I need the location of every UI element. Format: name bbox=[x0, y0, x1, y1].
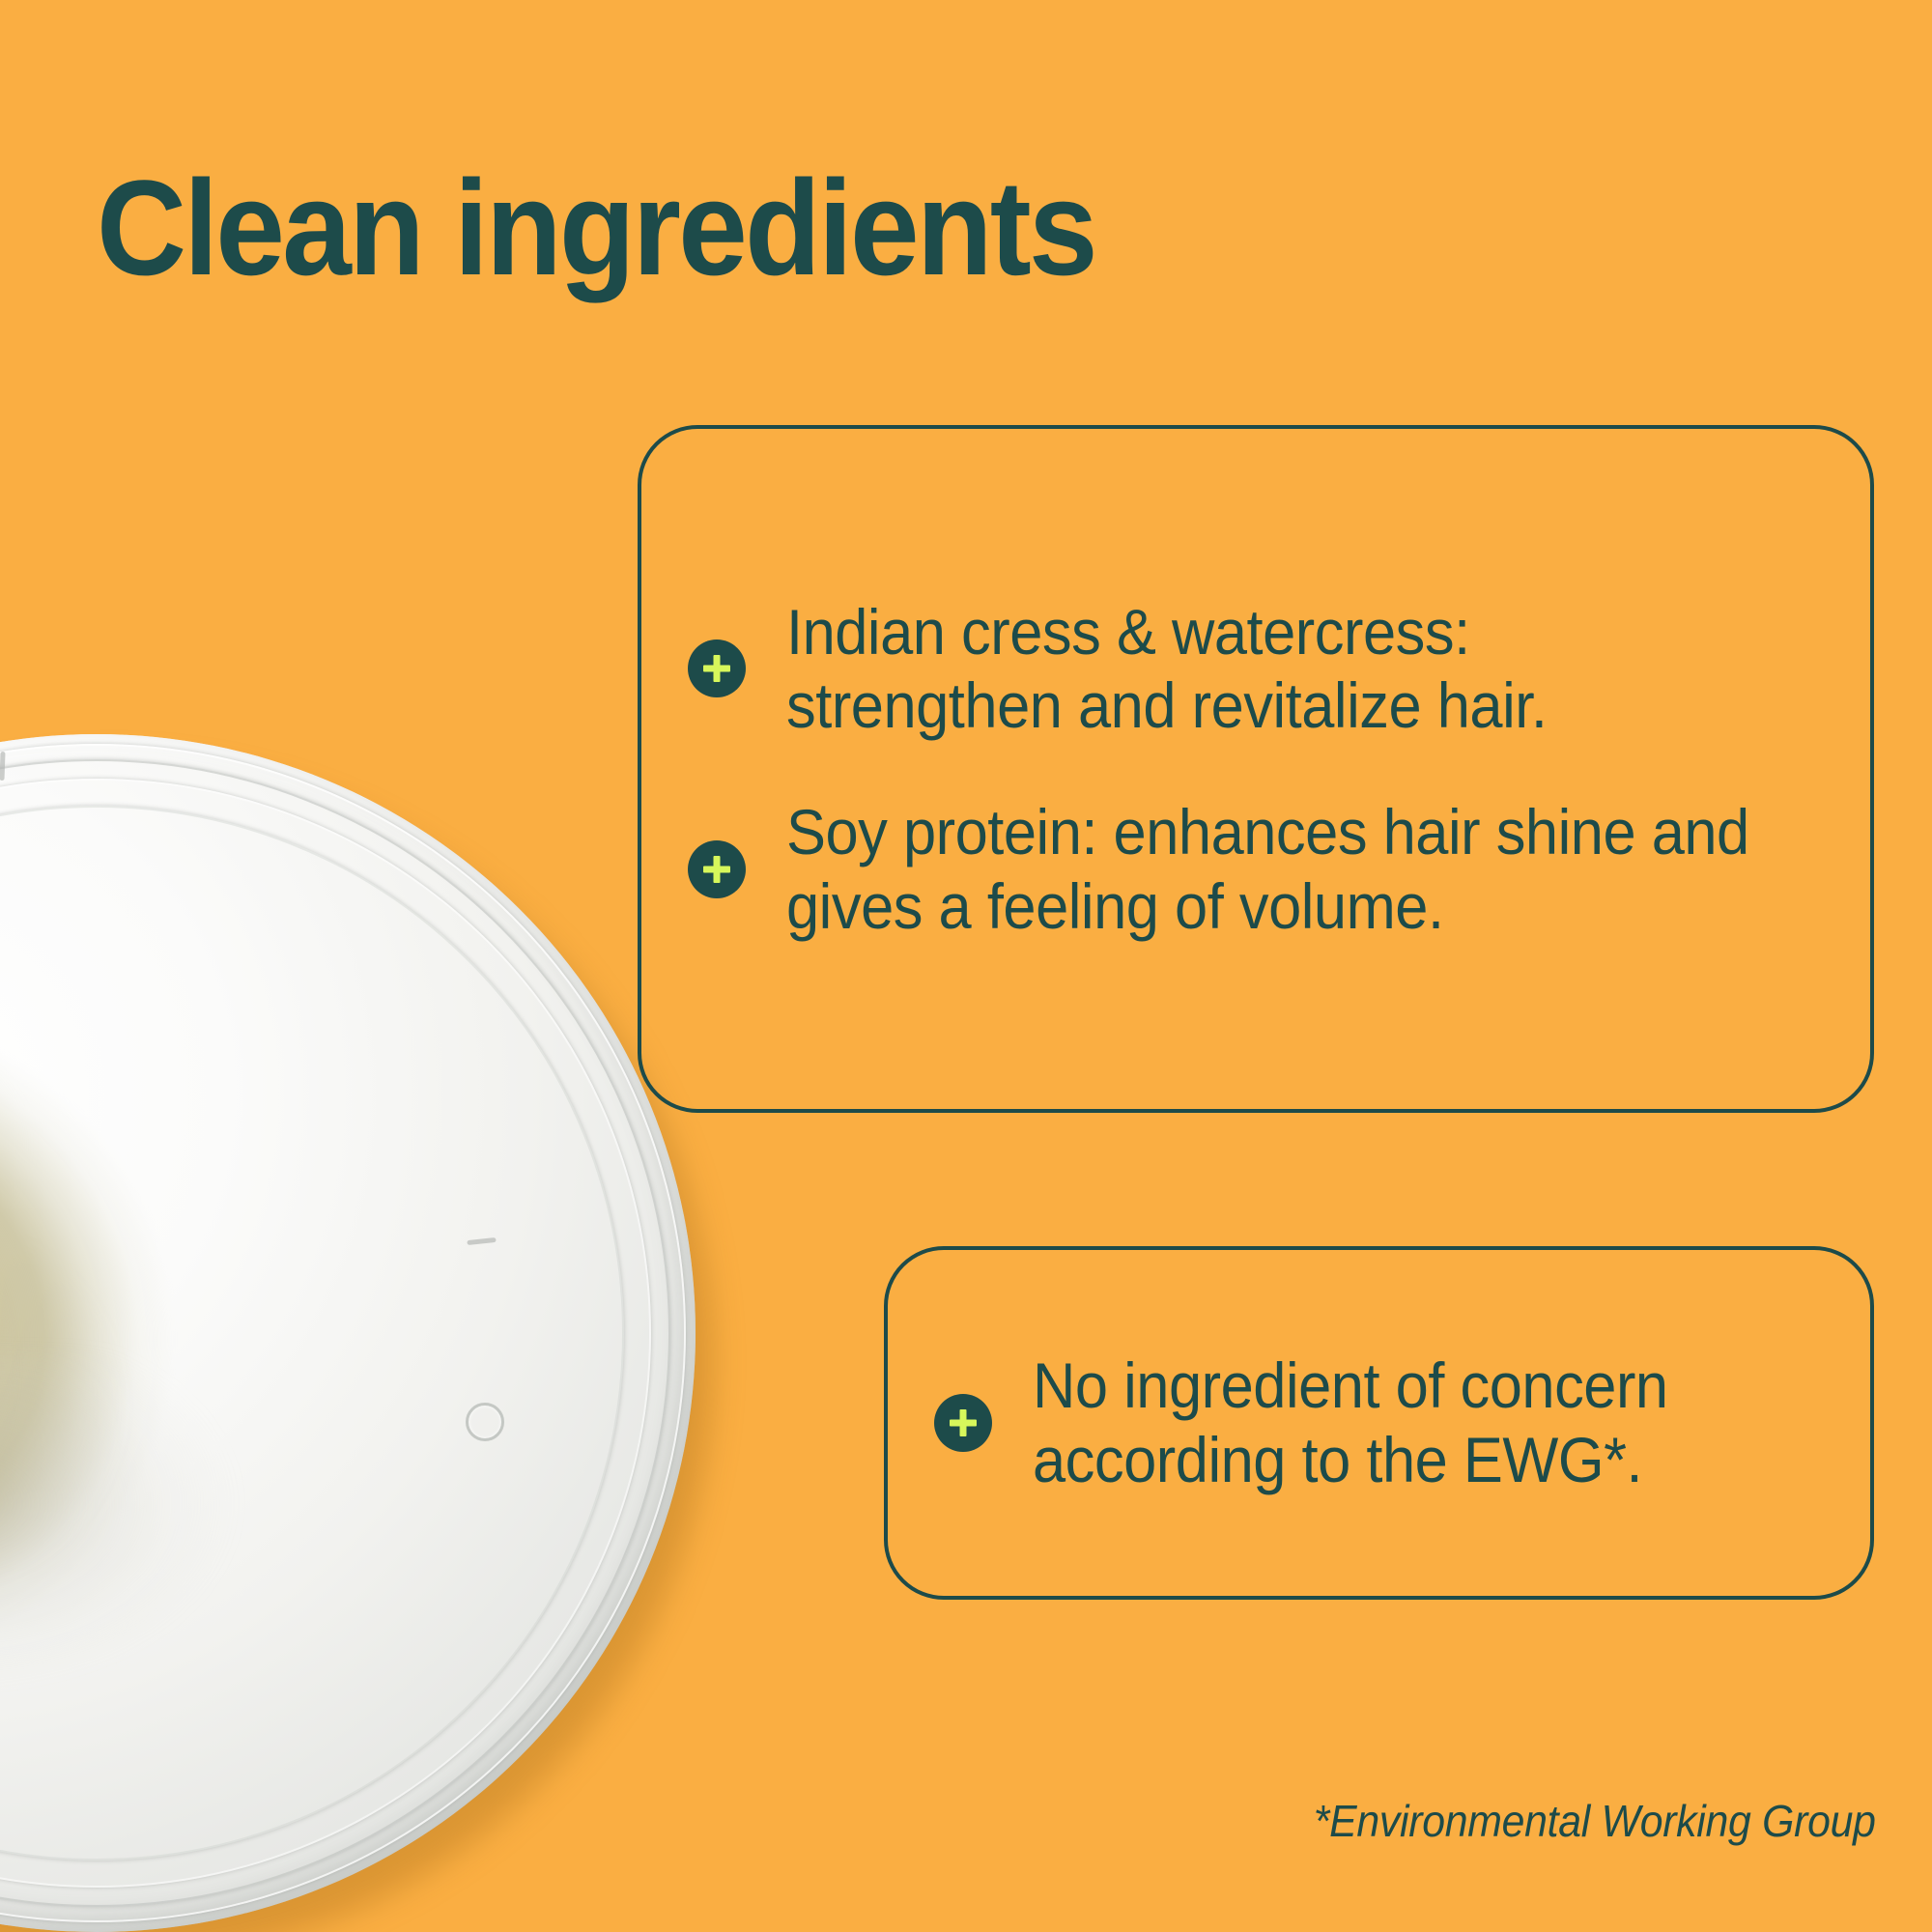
dish-glass-body bbox=[0, 734, 696, 1932]
infographic-canvas: Clean ingredients Indian cress & watercr… bbox=[0, 0, 1932, 1932]
list-item: Soy protein: enhances hair shine and giv… bbox=[641, 795, 1828, 943]
dish-rim-ring bbox=[0, 779, 651, 1888]
ewg-card: No ingredient of concern according to th… bbox=[884, 1246, 1874, 1600]
petri-dish-image bbox=[0, 734, 715, 1932]
page-title: Clean ingredients bbox=[97, 160, 1430, 296]
dish-rim-ring bbox=[0, 806, 624, 1861]
footnote: *Environmental Working Group bbox=[1314, 1795, 1876, 1847]
plus-icon bbox=[934, 1394, 992, 1452]
powder-dust bbox=[0, 1352, 415, 1797]
ingredient-bullet-text: Soy protein: enhances hair shine and giv… bbox=[786, 795, 1755, 943]
powder-shadow bbox=[0, 1188, 290, 1729]
plus-icon bbox=[688, 639, 746, 697]
dish-rim-marking bbox=[466, 1403, 504, 1441]
dish-rim-notch bbox=[0, 752, 6, 781]
powder-spill bbox=[0, 918, 203, 1323]
ewg-bullet-text: No ingredient of concern according to th… bbox=[1033, 1349, 1772, 1496]
dish-rim-notch bbox=[467, 1237, 496, 1245]
list-item: No ingredient of concern according to th… bbox=[888, 1349, 1828, 1496]
dish-drop-shadow bbox=[0, 763, 713, 1932]
ingredients-card: Indian cress & watercress: strengthen an… bbox=[638, 425, 1874, 1113]
dish-rim-ring bbox=[0, 759, 670, 1907]
plus-icon bbox=[688, 840, 746, 898]
powder-mound-core bbox=[0, 1082, 164, 1700]
dish-rim-ring bbox=[0, 744, 686, 1922]
ingredient-bullet-text: Indian cress & watercress: strengthen an… bbox=[786, 595, 1755, 743]
powder-mound bbox=[0, 956, 348, 1826]
list-item: Indian cress & watercress: strengthen an… bbox=[641, 595, 1828, 743]
